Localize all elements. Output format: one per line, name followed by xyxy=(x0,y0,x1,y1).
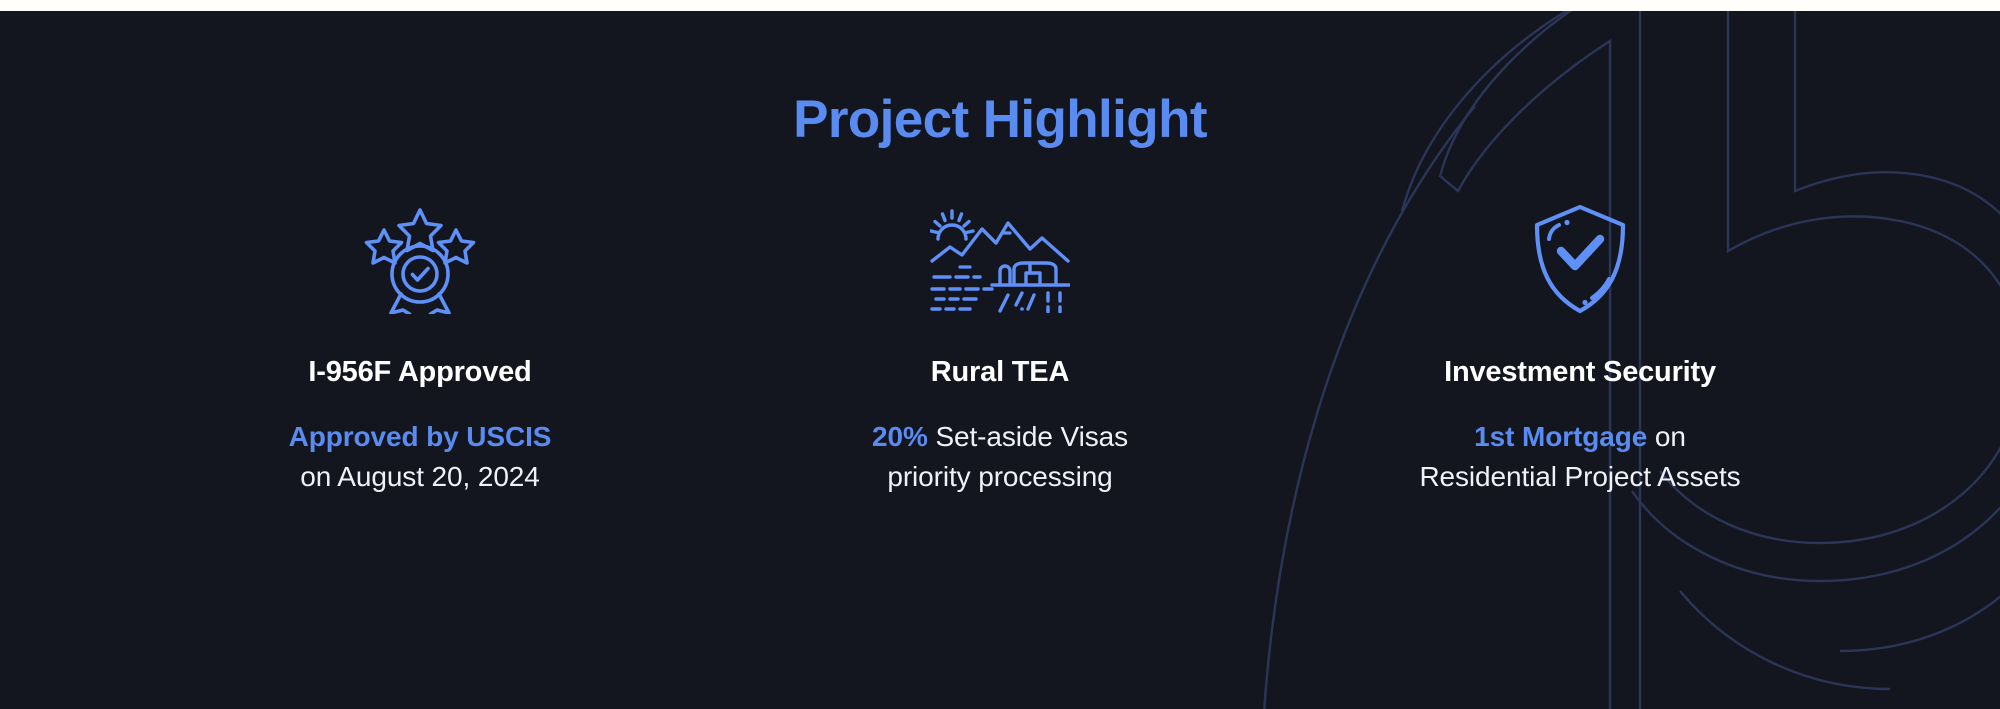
card-second-line: priority processing xyxy=(887,461,1112,492)
card-accent-text: 1st Mortgage xyxy=(1474,421,1647,452)
highlight-card-i956f: I-956F Approved Approved by USCIS on Aug… xyxy=(130,196,710,496)
card-rest-text: Set-aside Visas xyxy=(928,421,1128,452)
card-accent-text: 20% xyxy=(872,421,928,452)
card-second-line: Residential Project Assets xyxy=(1419,461,1740,492)
card-description: 1st Mortgage on Residential Project Asse… xyxy=(1419,417,1740,497)
card-second-line: on August 20, 2024 xyxy=(300,461,540,492)
project-highlight-section: Project Highlight xyxy=(0,11,2000,709)
top-white-strip xyxy=(0,0,2000,11)
card-rest-text: on xyxy=(1647,421,1686,452)
card-title: Rural TEA xyxy=(931,357,1069,389)
highlight-card-investment-security: Investment Security 1st Mortgage on Resi… xyxy=(1290,196,1870,496)
shield-check-icon xyxy=(1505,196,1655,321)
card-description: 20% Set-aside Visas priority processing xyxy=(872,417,1128,497)
highlight-card-rural-tea: Rural TEA 20% Set-aside Visas priority p… xyxy=(710,196,1290,496)
card-title: Investment Security xyxy=(1444,357,1716,389)
page-root: Project Highlight xyxy=(0,0,2000,709)
rural-landscape-icon xyxy=(925,196,1075,321)
award-badge-stars-icon xyxy=(345,196,495,321)
card-accent-text: Approved by USCIS xyxy=(289,421,552,452)
section-content: Project Highlight xyxy=(0,11,2000,709)
card-title: I-956F Approved xyxy=(308,357,531,389)
highlight-cards: I-956F Approved Approved by USCIS on Aug… xyxy=(130,196,1870,496)
page-title: Project Highlight xyxy=(0,89,2000,150)
card-description: Approved by USCIS on August 20, 2024 xyxy=(289,417,552,497)
